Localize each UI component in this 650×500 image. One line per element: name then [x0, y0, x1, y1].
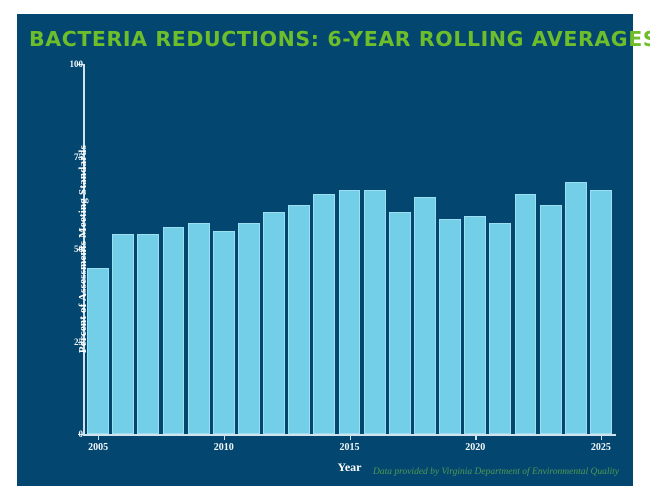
- bar: [87, 268, 109, 435]
- bar: [137, 234, 159, 434]
- x-tick-mark: [224, 435, 225, 440]
- x-tick-mark: [98, 435, 99, 440]
- bar-series: [83, 64, 616, 434]
- chart-title: BACTERIA REDUCTIONS: 6-YEAR ROLLING AVER…: [29, 27, 650, 51]
- bar: [515, 194, 537, 435]
- x-tick-mark: [475, 435, 476, 440]
- bar: [439, 219, 461, 434]
- bar: [288, 205, 310, 434]
- bar: [112, 234, 134, 434]
- bar: [389, 212, 411, 434]
- y-tick-label: 100: [70, 59, 84, 69]
- bar: [188, 223, 210, 434]
- bar: [263, 212, 285, 434]
- bar: [464, 216, 486, 434]
- x-tick-label: 2015: [340, 442, 360, 453]
- x-tick-label: 2010: [214, 442, 234, 453]
- x-tick-mark: [350, 435, 351, 440]
- attribution-text: Data provided by Virginia Department of …: [373, 467, 619, 477]
- y-axis-label: Percent of Assessments Meeting Standards: [77, 124, 89, 374]
- x-tick-mark: [601, 435, 602, 440]
- x-tick-label: 2020: [465, 442, 485, 453]
- bar: [238, 223, 260, 434]
- x-tick-label: 2005: [88, 442, 108, 453]
- bar: [339, 190, 361, 434]
- x-tick-label: 2025: [591, 442, 611, 453]
- bar: [590, 190, 612, 434]
- bar: [540, 205, 562, 434]
- bar: [313, 194, 335, 435]
- bar: [489, 223, 511, 434]
- chart-panel: BACTERIA REDUCTIONS: 6-YEAR ROLLING AVER…: [17, 14, 633, 486]
- bar: [163, 227, 185, 434]
- bar: [414, 197, 436, 434]
- bar: [364, 190, 386, 434]
- plot-area: 0255075100 20052010201520202025 Percent …: [83, 64, 616, 434]
- bar: [213, 231, 235, 435]
- bar: [565, 182, 587, 434]
